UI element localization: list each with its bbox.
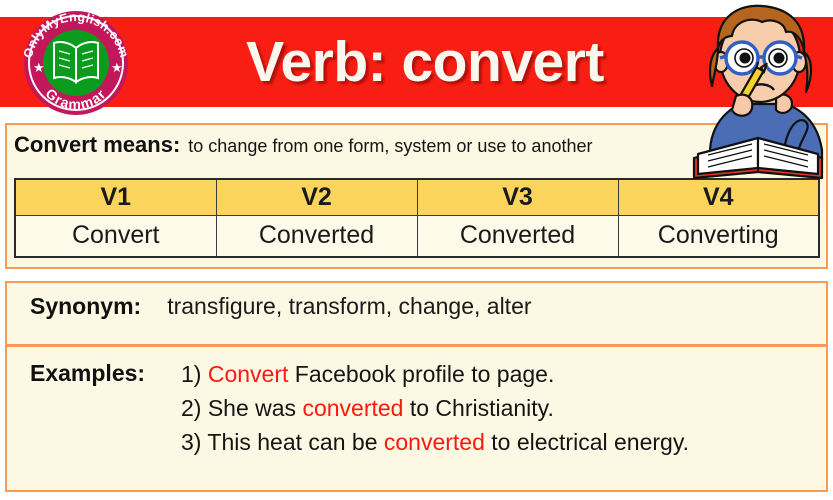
- synonym-label: Synonym:: [30, 293, 141, 320]
- example-before: She was: [201, 395, 302, 421]
- meaning-row: Convert means: to change from one form, …: [14, 132, 734, 168]
- synonym-row: Synonym: transfigure, transform, change,…: [30, 293, 532, 333]
- example-highlight: converted: [384, 429, 485, 455]
- boy-eye-right: [774, 53, 785, 64]
- example-after: to Christianity.: [403, 395, 553, 421]
- example-number: 2): [181, 395, 201, 421]
- logo-star-right-icon: ★: [111, 60, 123, 75]
- table-cell-v1: Convert: [15, 215, 216, 257]
- table-cell-v4: Converting: [618, 215, 819, 257]
- meaning-label: Convert means:: [14, 132, 180, 158]
- table-header-v4: V4: [618, 179, 819, 215]
- list-item: 1) Convert Facebook profile to page.: [181, 358, 821, 392]
- boy-hand-left: [732, 95, 752, 116]
- boy-eye-left: [740, 53, 751, 64]
- table-row: Convert Converted Converted Converting: [15, 215, 819, 257]
- site-logo: OnlyMyEnglish.com Grammar ★ ★: [17, 6, 135, 118]
- example-highlight: Convert: [208, 361, 289, 387]
- table-header-v2: V2: [216, 179, 417, 215]
- example-after: Facebook profile to page.: [288, 361, 554, 387]
- table-cell-v3: Converted: [417, 215, 618, 257]
- meaning-text: to change from one form, system or use t…: [188, 136, 592, 157]
- example-number: 1): [181, 361, 201, 387]
- thinking-boy-illustration: [688, 0, 833, 180]
- examples-list: 1) Convert Facebook profile to page. 2) …: [181, 358, 821, 459]
- list-item: 3) This heat can be converted to electri…: [181, 426, 821, 460]
- logo-star-left-icon: ★: [33, 60, 45, 75]
- open-book-icon: [54, 42, 98, 82]
- table-header-row: V1 V2 V3 V4: [15, 179, 819, 215]
- table-cell-v2: Converted: [216, 215, 417, 257]
- examples-label: Examples:: [30, 360, 145, 387]
- example-number: 3): [181, 429, 201, 455]
- verb-forms-table: V1 V2 V3 V4 Convert Converted Converted …: [14, 178, 820, 258]
- synonym-text: transfigure, transform, change, alter: [167, 293, 531, 320]
- example-highlight: converted: [302, 395, 403, 421]
- page-title: Verb: convert: [175, 22, 675, 102]
- example-before: This heat can be: [201, 429, 383, 455]
- list-item: 2) She was converted to Christianity.: [181, 392, 821, 426]
- example-after: to electrical energy.: [485, 429, 689, 455]
- table-header-v3: V3: [417, 179, 618, 215]
- table-header-v1: V1: [15, 179, 216, 215]
